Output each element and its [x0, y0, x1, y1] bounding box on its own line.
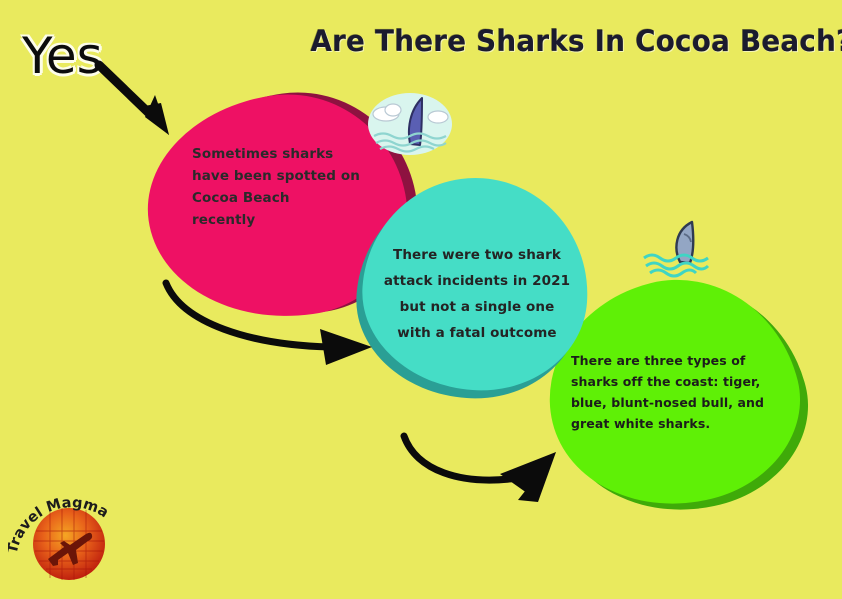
arrow-cyan-to-green-icon: [400, 430, 580, 520]
shark-fin-in-water-icon: [366, 88, 454, 158]
answer-label-yes: Yes: [22, 27, 103, 85]
fact-blob-cyan: There were two shark attack incidents in…: [357, 178, 592, 403]
arrow-yes-to-pink-icon: [95, 55, 205, 155]
green-blob-text: There are three types of sharks off the …: [571, 350, 776, 434]
cyan-blob-text: There were two shark attack incidents in…: [379, 242, 575, 346]
shark-fin-waves-icon: [640, 218, 720, 280]
arrow-pink-to-cyan-icon: [160, 275, 390, 370]
page-title: Are There Sharks In Cocoa Beach?: [310, 24, 809, 58]
travel-magma-logo[interactable]: Travel Magma: [8, 487, 138, 592]
infographic-poster: Are There Sharks In Cocoa Beach? Yes Som…: [0, 0, 842, 599]
